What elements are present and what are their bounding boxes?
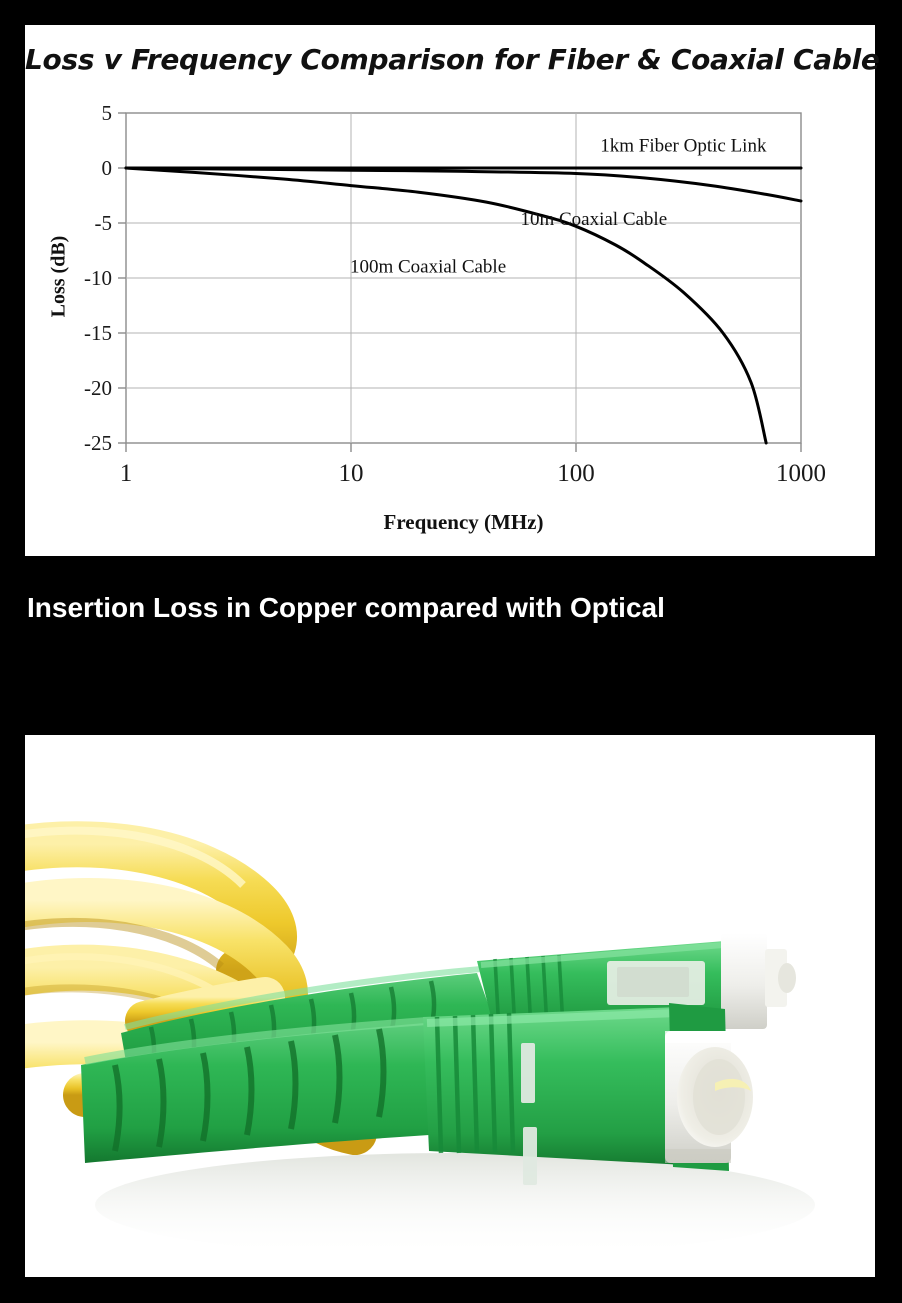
svg-text:1000: 1000 [776,460,826,487]
svg-text:0: 0 [102,156,113,180]
caption-text: Insertion Loss in Copper compared with O… [27,592,665,624]
svg-text:-15: -15 [84,321,112,345]
svg-text:5: 5 [102,101,113,125]
lower-connector-body [423,1007,685,1165]
series-label: 100m Coaxial Cable [350,257,506,278]
y-axis-title: Loss (dB) [48,217,71,337]
svg-text:1: 1 [120,460,133,487]
svg-text:-10: -10 [84,266,112,290]
y-axis-ticks: 50-5-10-15-20-25 [84,101,126,455]
svg-text:-25: -25 [84,431,112,455]
x-axis-ticks: 1101001000 [120,443,826,487]
svg-text:10: 10 [339,460,364,487]
x-axis-title: Frequency (MHz) [126,510,801,535]
svg-text:-5: -5 [95,211,113,235]
loss-vs-frequency-line-chart: 50-5-10-15-20-25 1101001000 1km Fiber Op… [25,25,875,556]
series-label: 10m Coaxial Cable [520,209,667,230]
series-label: 1km Fiber Optic Link [600,136,767,157]
svg-text:100: 100 [557,460,595,487]
upper-ferrule-housing [721,933,767,1029]
fiber-optic-connectors-image [25,735,875,1277]
lower-latch-mark-upper [521,1043,535,1103]
chart-panel: Loss v Frequency Comparison for Fiber & … [25,25,875,556]
photo-panel [25,735,875,1277]
svg-text:-20: -20 [84,376,112,400]
lower-latch-mark-lower [523,1127,537,1185]
plot-area: 50-5-10-15-20-25 1101001000 1km Fiber Op… [25,25,875,556]
